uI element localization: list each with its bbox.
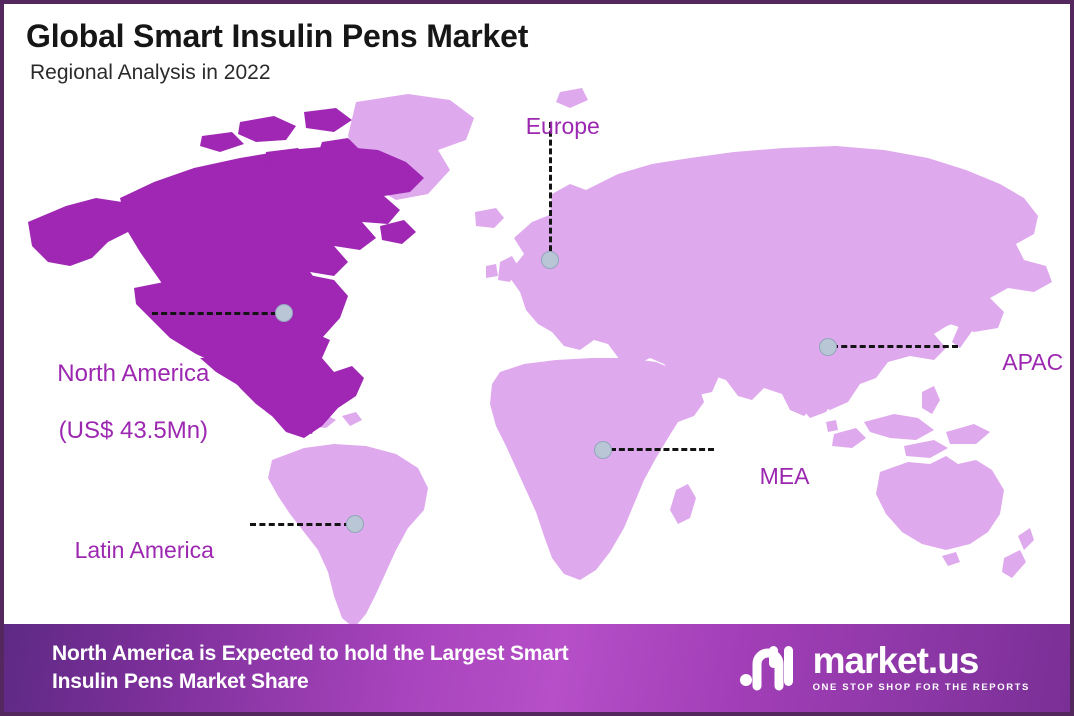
map-marker-north-america[interactable]: [275, 304, 293, 322]
region-label-latin-america-text: Latin America: [75, 537, 214, 563]
region-label-apac-text: APAC: [1002, 349, 1063, 375]
region-label-apac: APAC: [978, 322, 1063, 403]
footer-banner: North America is Expected to hold the La…: [4, 624, 1070, 712]
region-label-europe: Europe: [474, 86, 626, 167]
infographic-root: Global Smart Insulin Pens Market Regiona…: [0, 0, 1074, 716]
footer-caption-line2: Insulin Pens Market Share: [52, 670, 308, 693]
leader-line-north-america: [152, 312, 286, 315]
page-title: Global Smart Insulin Pens Market: [26, 20, 1070, 54]
market-us-wordmark: market.us: [813, 643, 979, 678]
map-marker-latin-america[interactable]: [346, 515, 364, 533]
footer-caption-line1: North America is Expected to hold the La…: [52, 642, 568, 665]
map-marker-apac[interactable]: [819, 338, 837, 356]
market-us-logo-icon: [739, 642, 803, 694]
region-label-mea: MEA: [734, 436, 809, 517]
region-label-europe-text: Europe: [526, 113, 600, 139]
leader-line-mea: [610, 448, 714, 451]
region-label-latin-america: Latin America: [49, 510, 214, 591]
region-label-mea-text: MEA: [760, 463, 810, 489]
footer-caption: North America is Expected to hold the La…: [52, 640, 568, 695]
map-marker-mea[interactable]: [594, 441, 612, 459]
leader-line-apac: [832, 345, 958, 348]
map-marker-europe[interactable]: [541, 251, 559, 269]
market-us-tagline: ONE STOP SHOP FOR THE REPORTS: [813, 682, 1030, 693]
leader-line-latin-america: [250, 523, 350, 526]
market-us-logo[interactable]: market.us ONE STOP SHOP FOR THE REPORTS: [739, 642, 1044, 694]
region-label-north-america-value: (US$ 43.5Mn): [59, 417, 208, 444]
region-label-north-america-line1: North America: [57, 360, 209, 387]
region-label-north-america: North America (US$ 43.5Mn): [22, 332, 218, 474]
market-us-logo-text: market.us ONE STOP SHOP FOR THE REPORTS: [813, 643, 1030, 693]
